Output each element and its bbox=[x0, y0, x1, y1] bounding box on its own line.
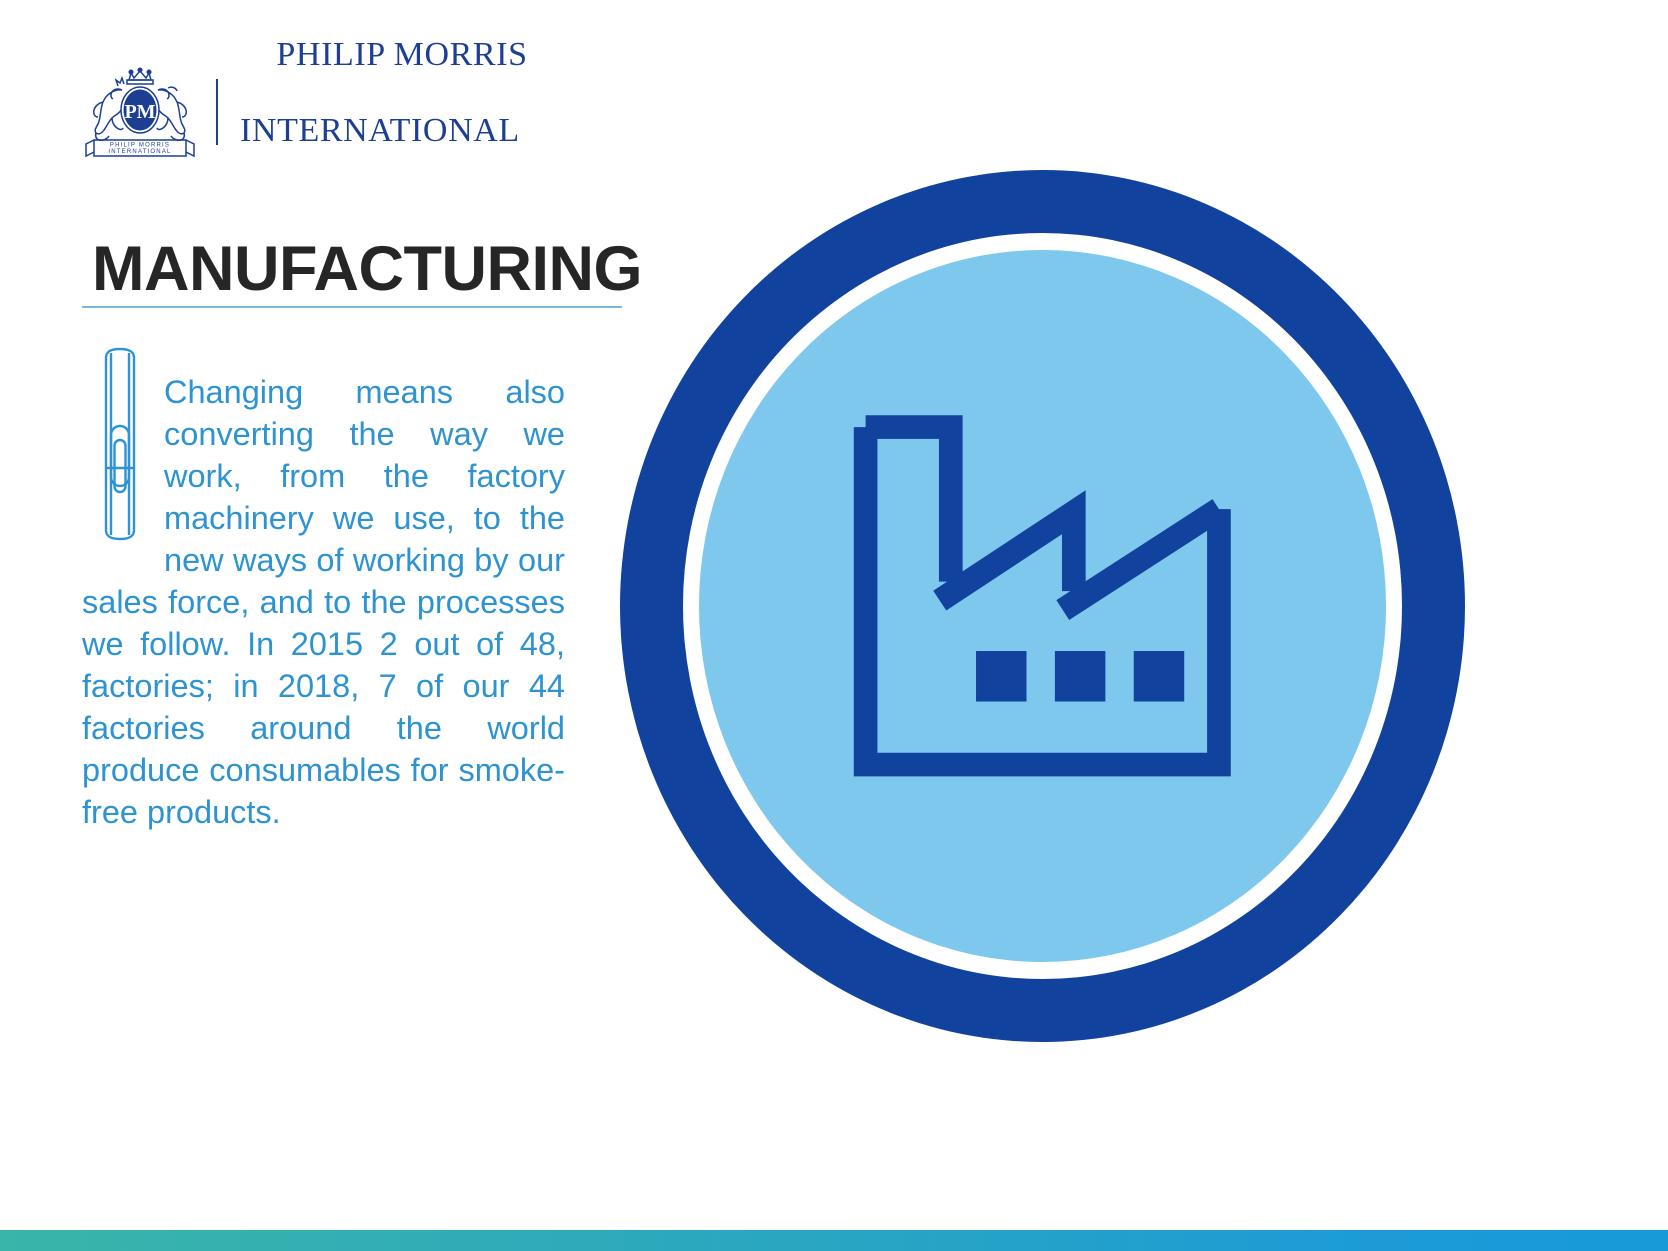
iqos-device-icon bbox=[92, 344, 148, 544]
factory-window-1 bbox=[976, 651, 1026, 701]
manufacturing-badge bbox=[620, 170, 1465, 1042]
factory-window-2 bbox=[1055, 651, 1105, 701]
brand-name-line2: INTERNATIONAL bbox=[240, 112, 528, 150]
footer-gradient-bar bbox=[0, 1230, 1668, 1251]
factory-icon bbox=[853, 404, 1232, 788]
crest-monogram: PM bbox=[124, 101, 155, 123]
factory-window-3 bbox=[1134, 651, 1184, 701]
brand-lockup: PM PHILIP MORRIS INTERNATIONAL PHILIP MO… bbox=[82, 62, 528, 162]
title-divider bbox=[82, 306, 622, 308]
brand-divider bbox=[216, 79, 218, 145]
body-copy-block: Changing means also converting the way w… bbox=[82, 338, 565, 865]
body-copy-text: Changing means also converting the way w… bbox=[82, 371, 565, 833]
page-title: MANUFACTURING bbox=[92, 238, 642, 301]
pmi-crest-icon: PM PHILIP MORRIS INTERNATIONAL bbox=[82, 64, 198, 160]
svg-text:PHILIP MORRIS: PHILIP MORRIS bbox=[110, 143, 170, 149]
brand-name-line1: PHILIP MORRIS bbox=[276, 36, 527, 73]
brand-name: PHILIP MORRIS INTERNATIONAL bbox=[240, 0, 528, 226]
svg-text:INTERNATIONAL: INTERNATIONAL bbox=[108, 149, 171, 155]
